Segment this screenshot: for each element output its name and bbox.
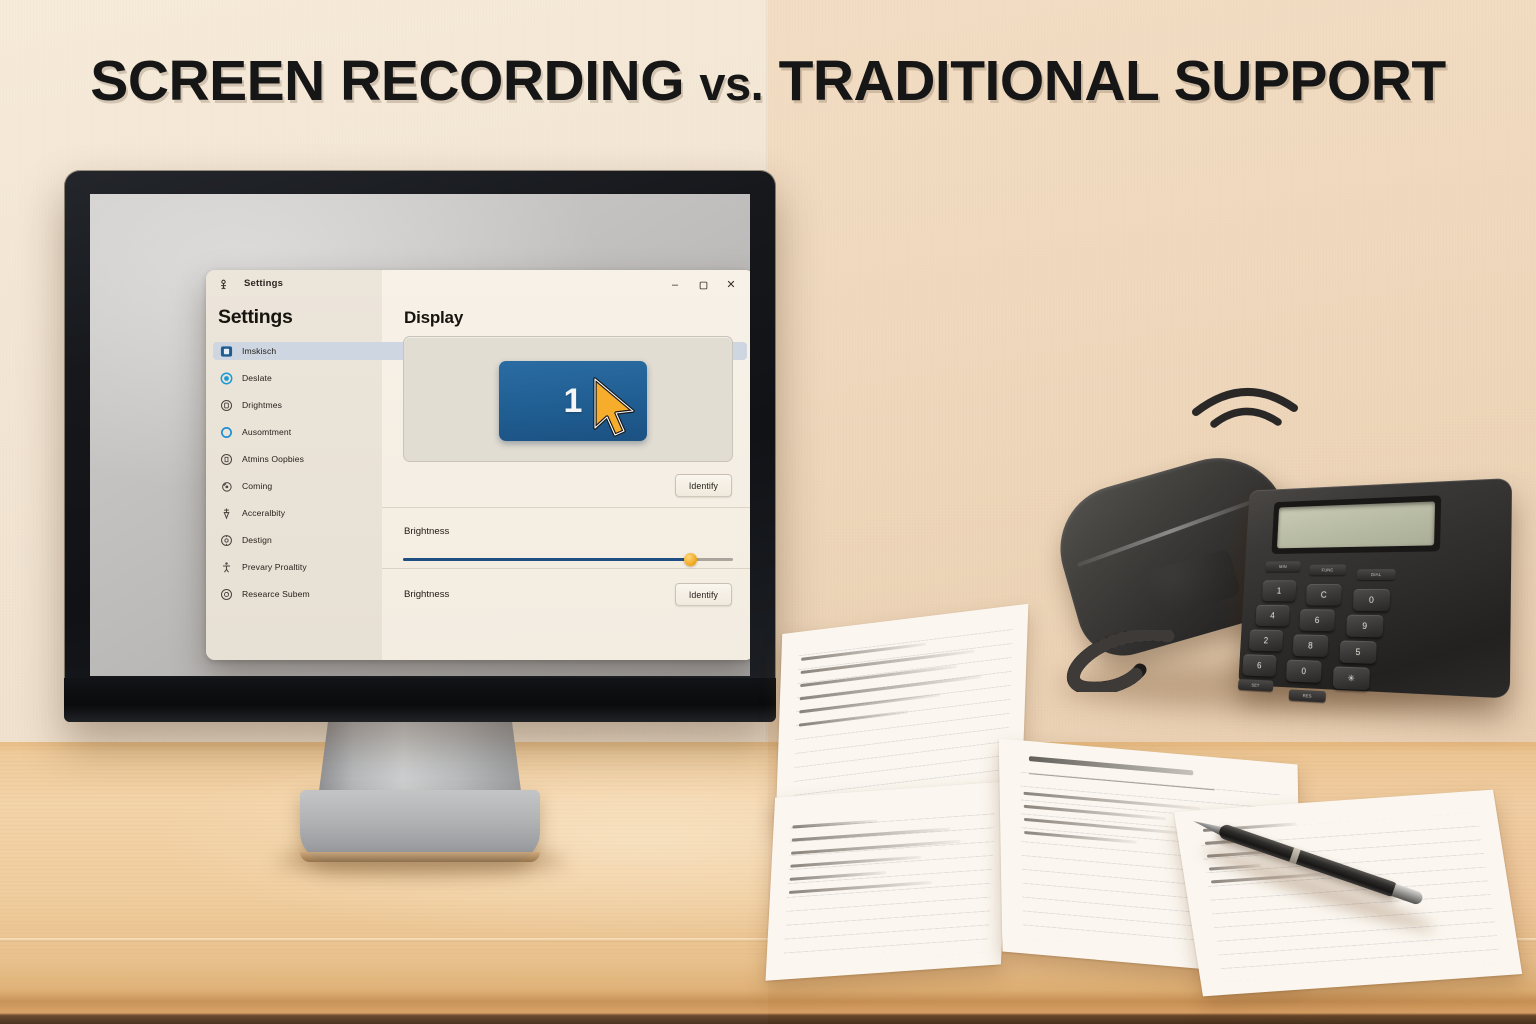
- phone-keypad[interactable]: MIN FUNC DIAL 1 C 0 4 6 9 2 8 5 6 0 ✳ SE…: [1258, 559, 1452, 684]
- privacy-icon: [220, 588, 233, 601]
- sidebar-item-acceralbity[interactable]: Acceralbity: [213, 504, 747, 522]
- monitor-screen: Settings – ✕ Settings: [90, 194, 750, 676]
- poster-title: SCREEN RECORDING vs. TRADITIONAL SUPPORT: [0, 48, 1536, 114]
- sidebar-item-destign[interactable]: Destign: [213, 531, 747, 549]
- phone-cord: [1048, 630, 1178, 692]
- sidebar-item-label: Ausomtment: [242, 427, 291, 437]
- slider-fill: [403, 558, 693, 561]
- personalize-icon: [220, 426, 233, 439]
- brightness-slider[interactable]: [403, 556, 733, 563]
- keypad-key-8[interactable]: 8: [1293, 634, 1329, 657]
- accounts-icon: [220, 480, 233, 493]
- sidebar-item-drightmes[interactable]: Drightmes: [213, 396, 747, 414]
- sidebar-item-label: Drightmes: [242, 400, 282, 410]
- sidebar-item-ausomtment[interactable]: Ausomtment: [213, 423, 747, 441]
- minimize-button[interactable]: –: [664, 275, 686, 295]
- keypad-key-9[interactable]: 9: [1346, 615, 1383, 638]
- function-key-dial[interactable]: DIAL: [1357, 569, 1396, 580]
- poster-canvas: Settings – ✕ Settings: [0, 0, 1536, 1024]
- handset-seam: [1077, 496, 1263, 567]
- function-key-min[interactable]: MIN: [1265, 561, 1301, 572]
- sidebar-item-researce-subem[interactable]: Researce Subem: [213, 585, 747, 603]
- phone-base-unit[interactable]: MIN FUNC DIAL 1 C 0 4 6 9 2 8 5 6 0 ✳ SE…: [1238, 478, 1512, 699]
- signal-waves-icon: [1190, 378, 1300, 428]
- monitor-chin: [64, 678, 776, 722]
- maximize-button[interactable]: [692, 275, 714, 295]
- gaming-icon: [220, 534, 233, 547]
- time-language-icon: [220, 507, 233, 520]
- sidebar-item-label: Researce Subem: [242, 589, 310, 599]
- identify-button-bottom[interactable]: Identify: [675, 583, 732, 606]
- settings-gear-icon: [216, 277, 231, 292]
- keypad-key-c[interactable]: C: [1306, 584, 1342, 606]
- window-titlebar[interactable]: Settings – ✕: [206, 270, 750, 300]
- keypad-key-star[interactable]: ✳: [1333, 666, 1370, 690]
- settings-nav-list: Imskisch Deslate: [213, 342, 747, 612]
- sidebar-heading: Settings: [218, 306, 293, 329]
- sidebar-item-label: Imskisch: [242, 346, 276, 356]
- keypad-key-0a[interactable]: 0: [1353, 589, 1390, 611]
- title-vs: vs.: [699, 57, 763, 110]
- window-app-title: Settings: [244, 278, 283, 289]
- monitor-stand-base-reflection: [300, 852, 540, 862]
- network-icon: [220, 399, 233, 412]
- keypad-key-2[interactable]: 2: [1249, 629, 1283, 651]
- handset-earpiece-grille: [1146, 548, 1242, 618]
- keypad-key-6b[interactable]: 6: [1242, 654, 1276, 677]
- function-key-set[interactable]: SET: [1238, 679, 1274, 691]
- title-right-part: TRADITIONAL SUPPORT: [779, 49, 1446, 113]
- sidebar-item-label: Acceralbity: [242, 508, 285, 518]
- office-desk-phone: MIN FUNC DIAL 1 C 0 4 6 9 2 8 5 6 0 ✳ SE…: [1040, 430, 1520, 720]
- slider-thumb[interactable]: [684, 553, 697, 566]
- pen-clicker-end: [1392, 884, 1425, 906]
- phone-lcd-display: [1277, 501, 1435, 548]
- keypad-key-1[interactable]: 1: [1262, 580, 1296, 601]
- keypad-key-6[interactable]: 6: [1299, 609, 1335, 631]
- sidebar-item-coming[interactable]: Coming: [213, 477, 747, 495]
- sidebar-item-label: Prevary Proaltity: [242, 562, 307, 572]
- accessibility-icon: [220, 561, 233, 574]
- sidebar-item-imskisch[interactable]: Imskisch: [213, 342, 747, 360]
- display-icon: [220, 345, 233, 358]
- identify-button-top[interactable]: Identify: [675, 474, 732, 497]
- sidebar-item-label: Deslate: [242, 373, 272, 383]
- title-left-part: SCREEN RECORDING: [90, 49, 684, 113]
- desktop-monitor: Settings – ✕ Settings: [64, 170, 776, 722]
- sidebar-item-atmins-oopbies[interactable]: Atmins Oopbies: [213, 450, 747, 468]
- sidebar-item-deslate[interactable]: Deslate: [213, 369, 747, 387]
- apps-icon: [220, 453, 233, 466]
- sidebar-item-label: Coming: [242, 481, 272, 491]
- note-paper: [765, 781, 1010, 981]
- close-button[interactable]: ✕: [720, 275, 742, 295]
- function-key-func[interactable]: FUNC: [1309, 564, 1346, 575]
- keypad-key-5[interactable]: 5: [1339, 640, 1376, 663]
- handwriting-scribble: [788, 812, 985, 904]
- keypad-key-4[interactable]: 4: [1255, 605, 1289, 627]
- settings-window[interactable]: Settings – ✕ Settings: [206, 270, 750, 660]
- keypad-key-0b[interactable]: 0: [1286, 660, 1322, 683]
- bluetooth-icon: [220, 372, 233, 385]
- function-key-res[interactable]: RES: [1289, 689, 1326, 702]
- sidebar-item-label: Atmins Oopbies: [242, 454, 304, 464]
- sidebar-item-label: Destign: [242, 535, 272, 545]
